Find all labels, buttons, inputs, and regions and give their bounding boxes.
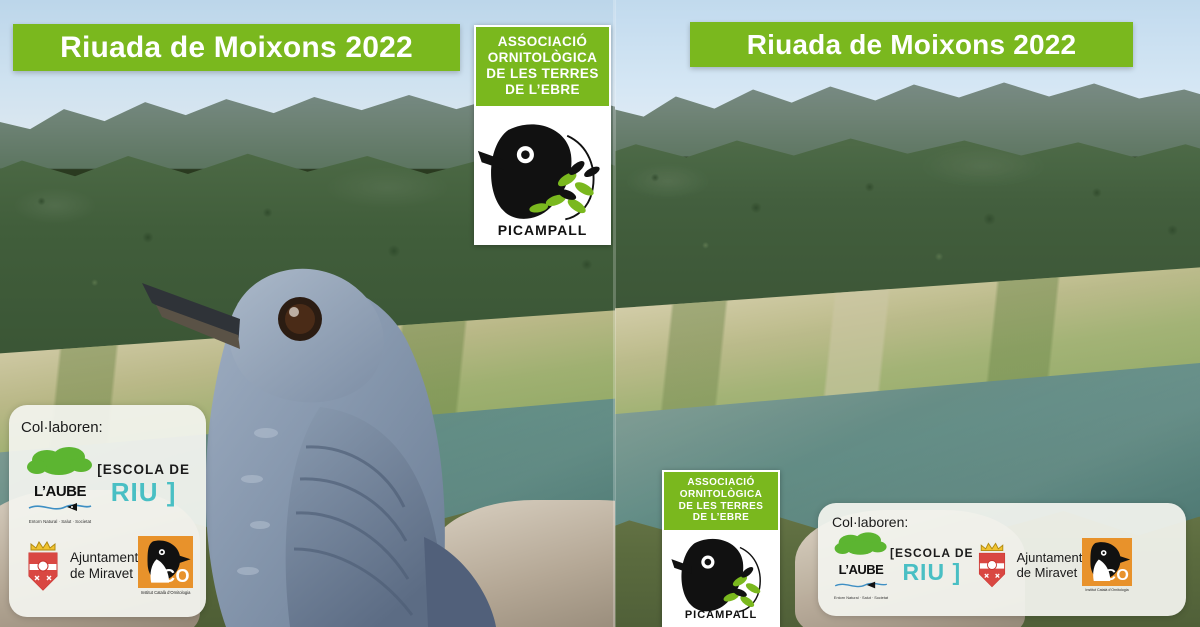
escola-line1: [ESCOLA DE: [97, 463, 190, 477]
laube-logo: L’AUBE Entorn Natural · Salut · Societat: [25, 444, 95, 524]
escola-line1: [ESCOLA DE: [890, 547, 974, 559]
picampall-logo-bottom: ASSOCIACIÓ ORNITOLÒGICA DE LES TERRES DE…: [662, 470, 780, 627]
crest-shield-icon: [974, 541, 1010, 589]
collaborators-box-left: Col·laboren: L’AUBE: [9, 405, 206, 617]
collaborators-label: Col·laboren:: [21, 419, 194, 436]
fish-wave-icon: [27, 501, 93, 513]
ico-logo: ICO Institut Català d’Ornitologia: [138, 536, 193, 595]
picampall-line3: DE LES TERRES: [667, 501, 775, 513]
picampall-line2: ORNITOLÒGICA: [667, 489, 775, 501]
tree-cloud-icon: [25, 444, 95, 484]
escola-line2: RIU ]: [97, 479, 190, 505]
poster-title-banner-right: Riuada de Moixons 2022: [690, 22, 1133, 67]
poster-title-left: Riuada de Moixons 2022: [60, 31, 413, 65]
picampall-emblem: PICAMPALL: [664, 530, 778, 625]
ajuntament-line1: Ajuntament: [1017, 550, 1083, 565]
ajuntament-line2: de Miravet: [70, 566, 138, 582]
laube-subtitle: Entorn Natural · Salut · Societat: [833, 595, 889, 600]
laube-logo: L’AUBE Entorn Natural · Salut · Societat: [832, 530, 890, 600]
collaborators-label: Col·laboren:: [832, 514, 1172, 530]
right-poster-panel: En què consisteix? Consisteix a comptar …: [615, 0, 1200, 627]
ajuntament-line2: de Miravet: [1017, 565, 1083, 580]
collaborators-box-right: Col·laboren: L’AUBE: [818, 503, 1186, 616]
picampall-emblem: PICAMPALL: [476, 106, 609, 243]
picampall-header: ASSOCIACIÓ ORNITOLÒGICA DE LES TERRES DE…: [664, 472, 778, 530]
ico-wordmark: ICO: [1099, 567, 1129, 585]
picampall-logo-main: ASSOCIACIÓ ORNITOLÒGICA DE LES TERRES DE…: [474, 25, 611, 245]
ico-caption: Institut Català d’Ornitologia: [1085, 587, 1130, 592]
tree-cloud-icon: [832, 530, 890, 562]
picampall-wordmark: PICAMPALL: [476, 222, 609, 238]
fish-wave-icon: [833, 580, 889, 590]
picampall-line1: ASSOCIACIÓ: [481, 34, 604, 50]
escola-de-riu-logo: [ESCOLA DE RIU ]: [97, 463, 190, 506]
ico-caption: Institut Català d’Ornitologia: [141, 590, 191, 595]
ajuntament-de-miravet-logo: Ajuntament de Miravet: [974, 541, 1083, 589]
left-poster-panel: Riuada de Moixons 2022 ASSOCIACIÓ ORNITO…: [0, 0, 615, 627]
ico-wordmark: ICO: [156, 566, 190, 587]
picampall-wordmark: PICAMPALL: [664, 609, 778, 621]
crest-shield-icon: [23, 540, 63, 592]
poster-canvas: Riuada de Moixons 2022 ASSOCIACIÓ ORNITO…: [0, 0, 1200, 627]
poster-title-banner-left: Riuada de Moixons 2022: [13, 24, 460, 71]
ico-emblem: ICO: [1082, 538, 1132, 586]
escola-line2: RIU ]: [890, 561, 974, 584]
picampall-line2: ORNITOLÒGICA: [481, 50, 604, 66]
escola-de-riu-logo: [ESCOLA DE RIU ]: [890, 547, 974, 584]
poster-title-right: Riuada de Moixons 2022: [747, 29, 1077, 61]
laube-subtitle: Entorn Natural · Salut · Societat: [26, 519, 93, 524]
picampall-header: ASSOCIACIÓ ORNITOLÒGICA DE LES TERRES DE…: [476, 27, 609, 106]
ico-logo: ICO Institut Català d’Ornitologia: [1082, 538, 1132, 592]
ajuntament-de-miravet-logo: Ajuntament de Miravet: [23, 540, 138, 592]
ajuntament-line1: Ajuntament: [70, 550, 138, 566]
picampall-line3: DE LES TERRES: [481, 66, 604, 82]
panel-divider: [613, 0, 616, 627]
ico-emblem: ICO: [138, 536, 193, 588]
picampall-line4: DE L’EBRE: [667, 512, 775, 524]
picampall-line1: ASSOCIACIÓ: [667, 477, 775, 489]
laube-wordmark: L’AUBE: [832, 562, 890, 577]
picampall-line4: DE L’EBRE: [481, 82, 604, 98]
laube-wordmark: L’AUBE: [25, 483, 95, 500]
